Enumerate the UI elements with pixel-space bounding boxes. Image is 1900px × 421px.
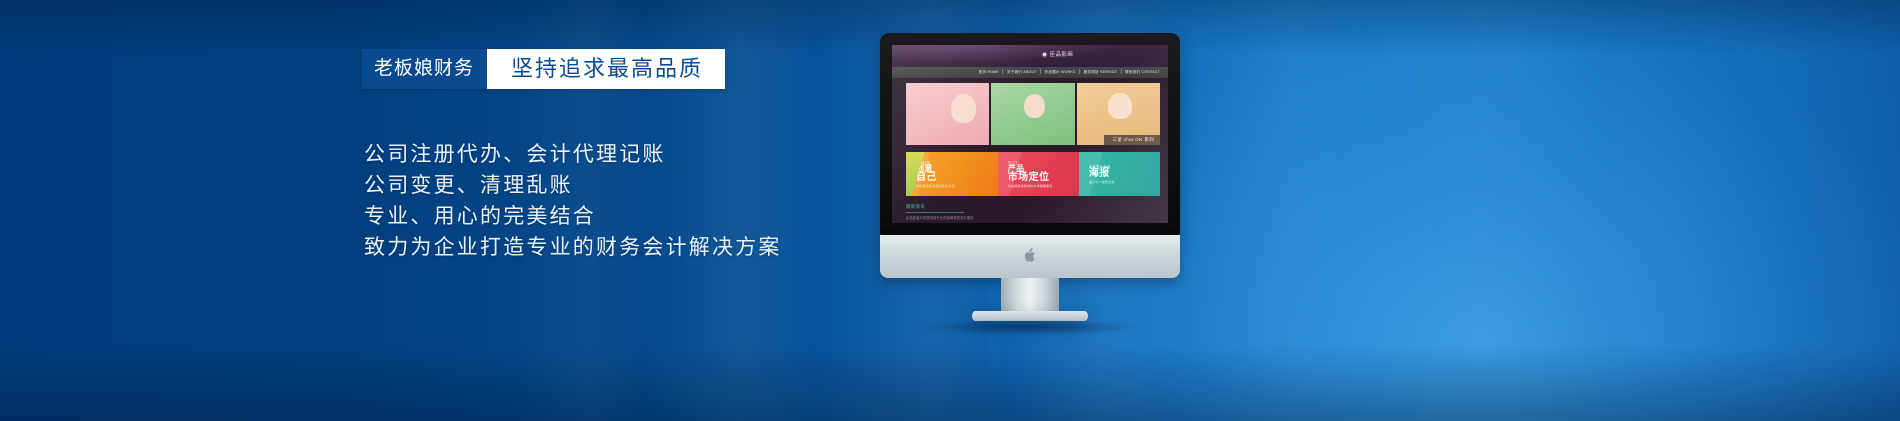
nav-item-home[interactable]: 首页 HOME	[979, 70, 999, 75]
imac-drop-shadow	[915, 319, 1145, 335]
promo-foot: 用创意改变世界的表达方式	[916, 184, 998, 188]
service-list: 公司注册代办、会计代理记账 公司变更、清理乱账 专业、用心的完美结合 致力为企业…	[364, 140, 782, 264]
promo-card[interactable]: 全案整合营销 海报 设计与VI视觉系统	[1079, 152, 1160, 196]
promo-main2: 海报	[1089, 169, 1160, 180]
imac-mockup: 臣品影画 首页 HOME 关于我们 ABOUT 作品展示 WORKS 服务项目 …	[880, 33, 1180, 305]
site-logo-text: 臣品影画	[1050, 50, 1073, 58]
promo-foot: 设计与VI视觉系统	[1089, 180, 1160, 184]
service-line: 专业、用心的完美结合	[364, 202, 782, 232]
nav-item-about[interactable]: 关于我们 ABOUT	[1007, 70, 1037, 75]
promo-card[interactable]: 专注于 产品 市场定位 为品牌提供精准的市场策略服务	[998, 152, 1079, 196]
service-line: 公司变更、清理乱账	[364, 171, 782, 201]
service-line: 公司注册代办、会计代理记账	[364, 140, 782, 170]
service-line: 致力为企业打造专业的财务会计解决方案	[364, 233, 782, 263]
imac-bezel: 臣品影画 首页 HOME 关于我们 ABOUT 作品展示 WORKS 服务项目 …	[880, 33, 1180, 235]
tagline-block: 老板娘财务 坚持追求最高品质	[362, 49, 725, 89]
hero-gallery: 三星 chat ON 系列	[906, 83, 1160, 145]
imac-chin	[880, 235, 1180, 278]
face-shape	[1108, 93, 1131, 119]
hero-tile[interactable]	[991, 83, 1074, 145]
news-text: 臣品影画为您提供最专业的品牌视觉设计服务	[906, 215, 1160, 220]
nav-item-works[interactable]: 作品展示 WORKS	[1045, 70, 1076, 75]
face-shape	[1024, 94, 1046, 119]
promo-card[interactable]: 做最好的 创意 自己 用创意改变世界的表达方式	[906, 152, 998, 196]
promo-banner: 老板娘财务 坚持追求最高品质 公司注册代办、会计代理记账 公司变更、清理乱账 专…	[0, 0, 1900, 421]
news-block: 最新资讯 臣品影画为您提供最专业的品牌视觉设计服务	[906, 204, 1160, 220]
face-shape	[951, 94, 976, 123]
apple-logo-icon	[1023, 247, 1038, 265]
site-header: 臣品影画	[892, 45, 1168, 67]
news-title: 最新资讯	[906, 204, 1160, 210]
nav-item-service[interactable]: 服务项目 SERVICE	[1084, 70, 1118, 75]
logo-mark-icon	[1041, 51, 1048, 58]
promo-foot: 为品牌提供精准的市场策略服务	[1008, 184, 1079, 188]
promo-row: 做最好的 创意 自己 用创意改变世界的表达方式 专注于 产品 市场定位 为品牌提…	[906, 152, 1160, 196]
promo-main2: 自己	[916, 173, 998, 184]
nav-item-contact[interactable]: 联系我们 CONTACT	[1125, 70, 1160, 75]
brand-label: 老板娘财务	[362, 49, 487, 89]
hero-tile[interactable]	[906, 83, 989, 145]
site-body: 三星 chat ON 系列 做最好的 创意 自己 用创意改变世界的表达方式 专注…	[892, 78, 1168, 223]
news-divider	[906, 212, 964, 213]
site-nav[interactable]: 首页 HOME 关于我们 ABOUT 作品展示 WORKS 服务项目 SERVI…	[892, 67, 1168, 78]
site-logo[interactable]: 臣品影画	[1041, 50, 1073, 58]
hero-caption: 三星 chat ON 系列	[1104, 135, 1160, 145]
imac-stand-neck	[1001, 278, 1059, 315]
slogan-label: 坚持追求最高品质	[487, 49, 725, 89]
promo-main2: 市场定位	[1008, 173, 1079, 184]
imac-screen: 臣品影画 首页 HOME 关于我们 ABOUT 作品展示 WORKS 服务项目 …	[892, 45, 1168, 223]
